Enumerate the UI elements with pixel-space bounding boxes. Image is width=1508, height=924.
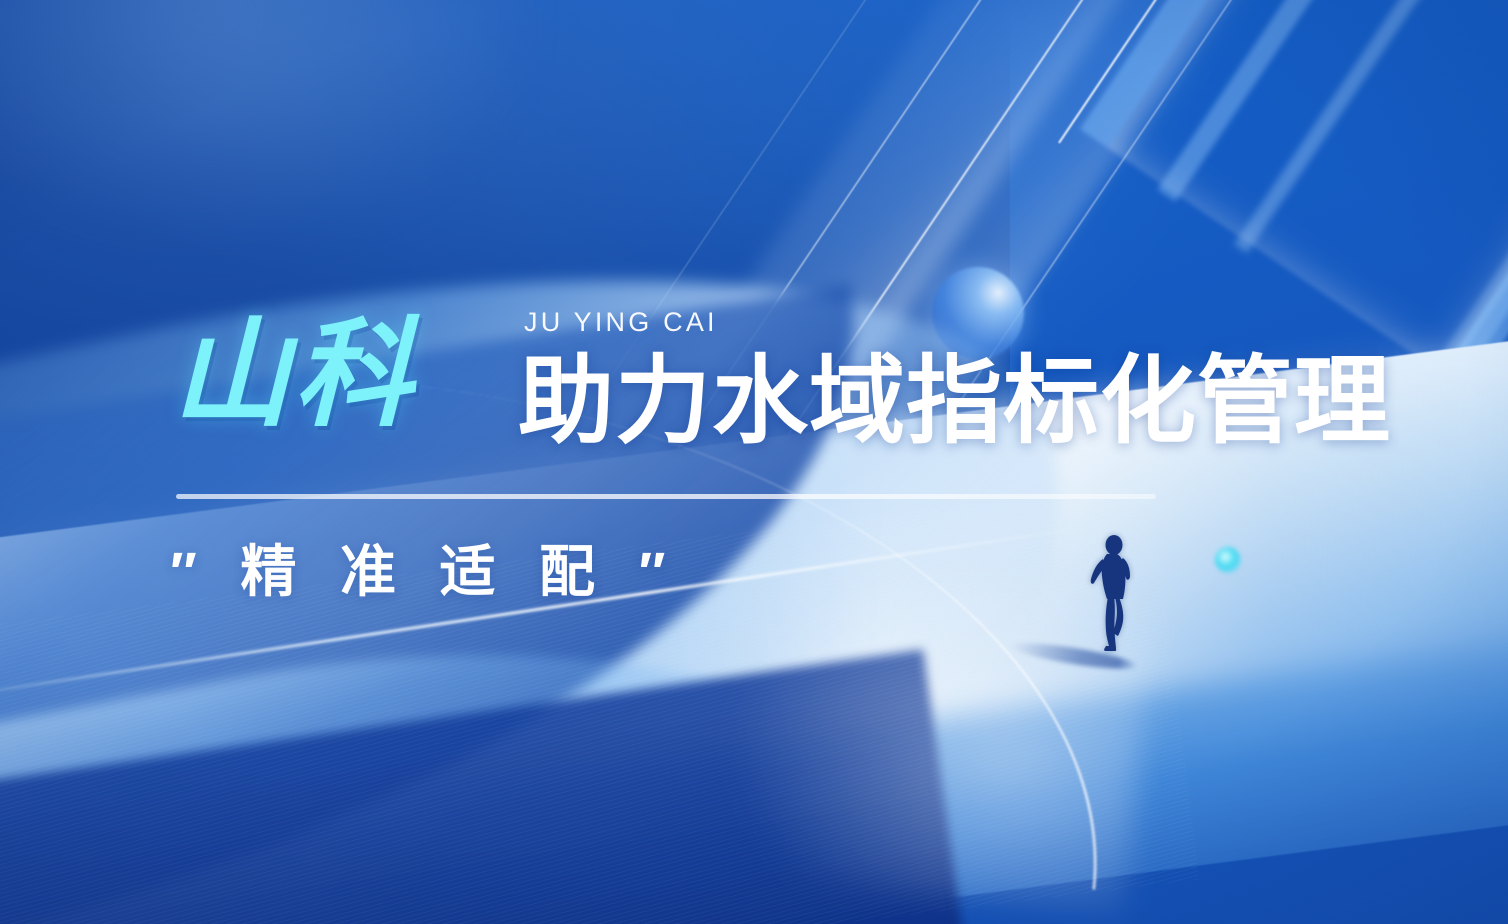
brand-logo-text: 山科 — [172, 316, 416, 434]
banner-content: 山科 JU YING CAI 助力水域指标化管理 ″ 精 准 适 配 ″ — [0, 0, 1508, 924]
subtitle-text: ″ 精 准 适 配 ″ — [170, 540, 679, 604]
brand-pinyin: JU YING CAI — [524, 307, 718, 338]
divider-line — [176, 494, 1156, 499]
headline-text: 助力水域指标化管理 — [518, 352, 1391, 452]
promo-banner: 山科 JU YING CAI 助力水域指标化管理 ″ 精 准 适 配 ″ — [0, 0, 1508, 924]
